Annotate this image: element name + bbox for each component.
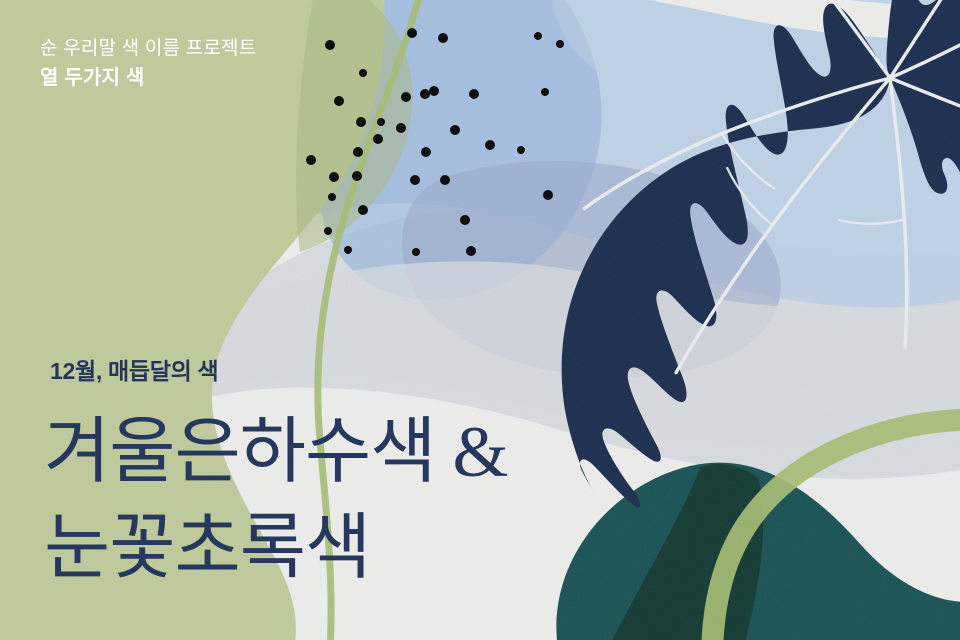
scatter-dot: [429, 86, 439, 96]
scatter-dot: [469, 89, 479, 99]
scatter-dot: [517, 146, 525, 154]
scatter-dot: [440, 175, 450, 185]
eyebrow-subtitle: 순 우리말 색 이름 프로젝트: [40, 36, 256, 62]
scatter-dot: [324, 227, 332, 235]
scatter-dot: [410, 175, 420, 185]
scatter-dot: [541, 88, 549, 96]
scatter-dot: [344, 246, 352, 254]
scatter-dot: [373, 134, 383, 144]
scatter-dot: [306, 155, 316, 165]
scatter-dot: [460, 215, 470, 225]
scatter-dot: [556, 40, 564, 48]
scatter-dot: [450, 125, 460, 135]
scatter-dot: [543, 190, 553, 200]
scatter-dot: [396, 123, 406, 133]
scatter-dot: [421, 147, 431, 157]
scatter-dot: [466, 246, 476, 256]
scatter-dot: [356, 117, 366, 127]
eyebrow-title: 열 두가지 색: [40, 64, 256, 92]
scatter-dot: [329, 172, 339, 182]
headline-line-2: 눈꽃초록색: [44, 500, 507, 596]
scatter-dot: [407, 28, 417, 38]
scatter-dot: [438, 33, 448, 43]
eyebrow-block: 순 우리말 색 이름 프로젝트 열 두가지 색: [40, 36, 256, 92]
scatter-dot: [352, 171, 362, 181]
poster-canvas: 순 우리말 색 이름 프로젝트 열 두가지 색 12월, 매듭달의 색 겨울은하…: [0, 0, 960, 640]
scatter-dot: [377, 118, 385, 126]
scatter-dot: [358, 205, 368, 215]
scatter-dot: [420, 89, 430, 99]
scatter-dot: [359, 69, 367, 77]
scatter-dot: [334, 96, 344, 106]
scatter-dot: [325, 40, 335, 50]
scatter-dot: [328, 193, 336, 201]
scatter-dot: [401, 92, 411, 102]
headline: 겨울은하수색 & 눈꽃초록색: [44, 404, 507, 596]
headline-line-1: 겨울은하수색 &: [44, 412, 507, 492]
month-label: 12월, 매듭달의 색: [50, 352, 218, 386]
scatter-dot: [353, 147, 363, 157]
scatter-dot: [412, 248, 420, 256]
scatter-dot: [534, 32, 542, 40]
scatter-dot: [485, 140, 495, 150]
